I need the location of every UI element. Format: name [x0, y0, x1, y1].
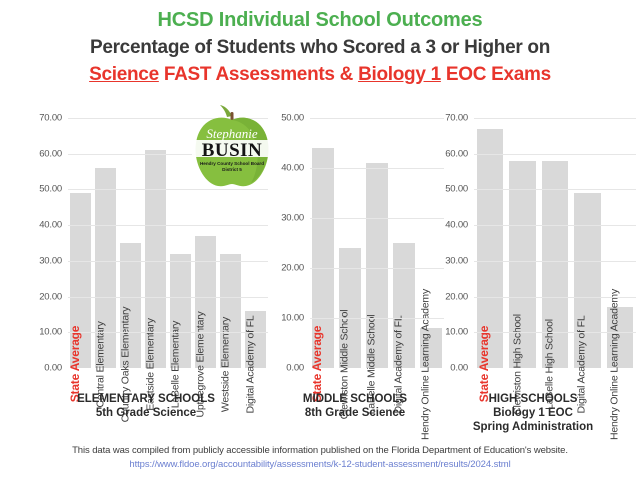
y-tick-label: 50.00	[281, 113, 304, 124]
caption-elementary: ELEMENTARY SCHOOLS 5th Grade Science	[22, 392, 270, 420]
y-tick-label: 30.00	[445, 255, 468, 266]
bar-column[interactable]: State Average	[310, 118, 337, 368]
page-title: HCSD Individual School Outcomes	[0, 9, 640, 32]
title-biology-word: Biology 1	[358, 64, 441, 85]
gridline	[310, 268, 444, 269]
caption-elementary-line1: ELEMENTARY SCHOOLS	[22, 392, 270, 406]
y-tick-label: 40.00	[281, 163, 304, 174]
caption-high-line1: HIGH SCHOOLS	[428, 392, 638, 406]
gridline	[474, 297, 636, 298]
y-tick-label: 0.00	[286, 363, 304, 374]
bar-column[interactable]: Digital Academy of FL	[390, 118, 417, 368]
plot-area-high: State AverageClewiston High SchoolLaBell…	[474, 118, 636, 368]
y-tick-label: 40.00	[39, 220, 62, 231]
gridline	[474, 261, 636, 262]
charts-container: 0.0010.0020.0030.0040.0050.0060.0070.00 …	[0, 118, 640, 390]
gridline	[68, 225, 268, 226]
gridline	[310, 318, 444, 319]
bar-column[interactable]: Clewiston High School	[506, 118, 538, 368]
gridline	[474, 332, 636, 333]
caption-high-line3: Spring Administration	[428, 420, 638, 434]
y-axis-elementary: 0.0010.0020.0030.0040.0050.0060.0070.00	[22, 118, 66, 368]
svg-text:BUSIN: BUSIN	[202, 140, 263, 161]
y-tick-label: 50.00	[445, 184, 468, 195]
caption-elementary-line2: 5th Grade Science	[22, 406, 270, 420]
bar-column[interactable]: Country Oaks Elementary	[118, 118, 143, 368]
caption-middle-line2: 8th Grade Science	[264, 406, 446, 420]
bar-column[interactable]: LaBelle Middle School	[364, 118, 391, 368]
bar-category-label: State Average	[69, 326, 81, 403]
y-tick-label: 20.00	[445, 291, 468, 302]
y-tick-label: 20.00	[281, 263, 304, 274]
y-tick-label: 60.00	[39, 148, 62, 159]
caption-middle: MIDDLE SCHOOLS 8th Grade Science	[264, 392, 446, 420]
y-tick-label: 50.00	[39, 184, 62, 195]
footer: This data was compiled from publicly acc…	[0, 444, 640, 472]
gridline	[474, 225, 636, 226]
y-tick-label: 0.00	[44, 363, 62, 374]
gridline	[310, 118, 444, 119]
gridline	[68, 332, 268, 333]
bars-high: State AverageClewiston High SchoolLaBell…	[474, 118, 636, 368]
gridline	[68, 297, 268, 298]
bar-category-label: State Average	[311, 326, 323, 403]
title-science-word: Science	[89, 64, 159, 85]
chart-captions: ELEMENTARY SCHOOLS 5th Grade Science MID…	[0, 392, 640, 440]
bars-middle: State AverageClewiston Middle SchoolLaBe…	[310, 118, 444, 368]
gridline	[310, 168, 444, 169]
plot-area-middle: State AverageClewiston Middle SchoolLaBe…	[310, 118, 444, 368]
header-titles: HCSD Individual School Outcomes Percenta…	[0, 0, 640, 87]
apple-logo-icon: Stephanie BUSIN Hendry County School Boa…	[180, 104, 284, 192]
bar-column[interactable]: State Average	[474, 118, 506, 368]
y-axis-high: 0.0010.0020.0030.0040.0050.0060.0070.00	[428, 118, 472, 368]
y-tick-label: 10.00	[39, 327, 62, 338]
footer-note: This data was compiled from publicly acc…	[0, 444, 640, 458]
y-tick-label: 0.00	[450, 363, 468, 374]
bar-column[interactable]: Digital Academy of FL	[571, 118, 603, 368]
bar-column[interactable]: LaBelle High School	[539, 118, 571, 368]
bar-column[interactable]: Central Elementary	[93, 118, 118, 368]
bar-column[interactable]: State Average	[68, 118, 93, 368]
bar-category-label: State Average	[478, 326, 490, 403]
gridline	[68, 261, 268, 262]
bar-column[interactable]: Hendry Online Learning Academy	[604, 118, 636, 368]
svg-text:District 5: District 5	[222, 167, 242, 172]
y-tick-label: 40.00	[445, 220, 468, 231]
chart-high: 0.0010.0020.0030.0040.0050.0060.0070.00 …	[428, 118, 638, 390]
y-tick-label: 60.00	[445, 148, 468, 159]
caption-middle-line1: MIDDLE SCHOOLS	[264, 392, 446, 406]
page-subtitle-assessments: Science FAST Assessments & Biology 1 EOC…	[0, 62, 640, 87]
gridline	[474, 154, 636, 155]
y-tick-label: 10.00	[281, 313, 304, 324]
gridline	[310, 218, 444, 219]
y-tick-label: 70.00	[445, 113, 468, 124]
title-tail-text: EOC Exams	[441, 64, 551, 85]
bar-column[interactable]: Eastside Elementary	[143, 118, 168, 368]
footer-source-link[interactable]: https://www.fldoe.org/accountability/ass…	[0, 458, 640, 472]
y-tick-label: 30.00	[39, 255, 62, 266]
y-tick-label: 10.00	[445, 327, 468, 338]
y-tick-label: 70.00	[39, 113, 62, 124]
chart-middle: 0.0010.0020.0030.0040.0050.00 State Aver…	[264, 118, 446, 390]
school-board-logo: Stephanie BUSIN Hendry County School Boa…	[180, 104, 284, 192]
caption-high-line2: Biology 1 EOC	[428, 406, 638, 420]
svg-text:Stephanie: Stephanie	[206, 126, 257, 141]
bar-column[interactable]: Clewiston Middle School	[337, 118, 364, 368]
gridline	[474, 118, 636, 119]
y-tick-label: 20.00	[39, 291, 62, 302]
caption-high: HIGH SCHOOLS Biology 1 EOC Spring Admini…	[428, 392, 638, 434]
page-subtitle: Percentage of Students who Scored a 3 or…	[0, 35, 640, 60]
gridline	[474, 189, 636, 190]
title-mid-text: FAST Assessments &	[159, 64, 358, 85]
y-tick-label: 30.00	[281, 213, 304, 224]
svg-text:Hendry County School Board: Hendry County School Board	[200, 161, 264, 166]
